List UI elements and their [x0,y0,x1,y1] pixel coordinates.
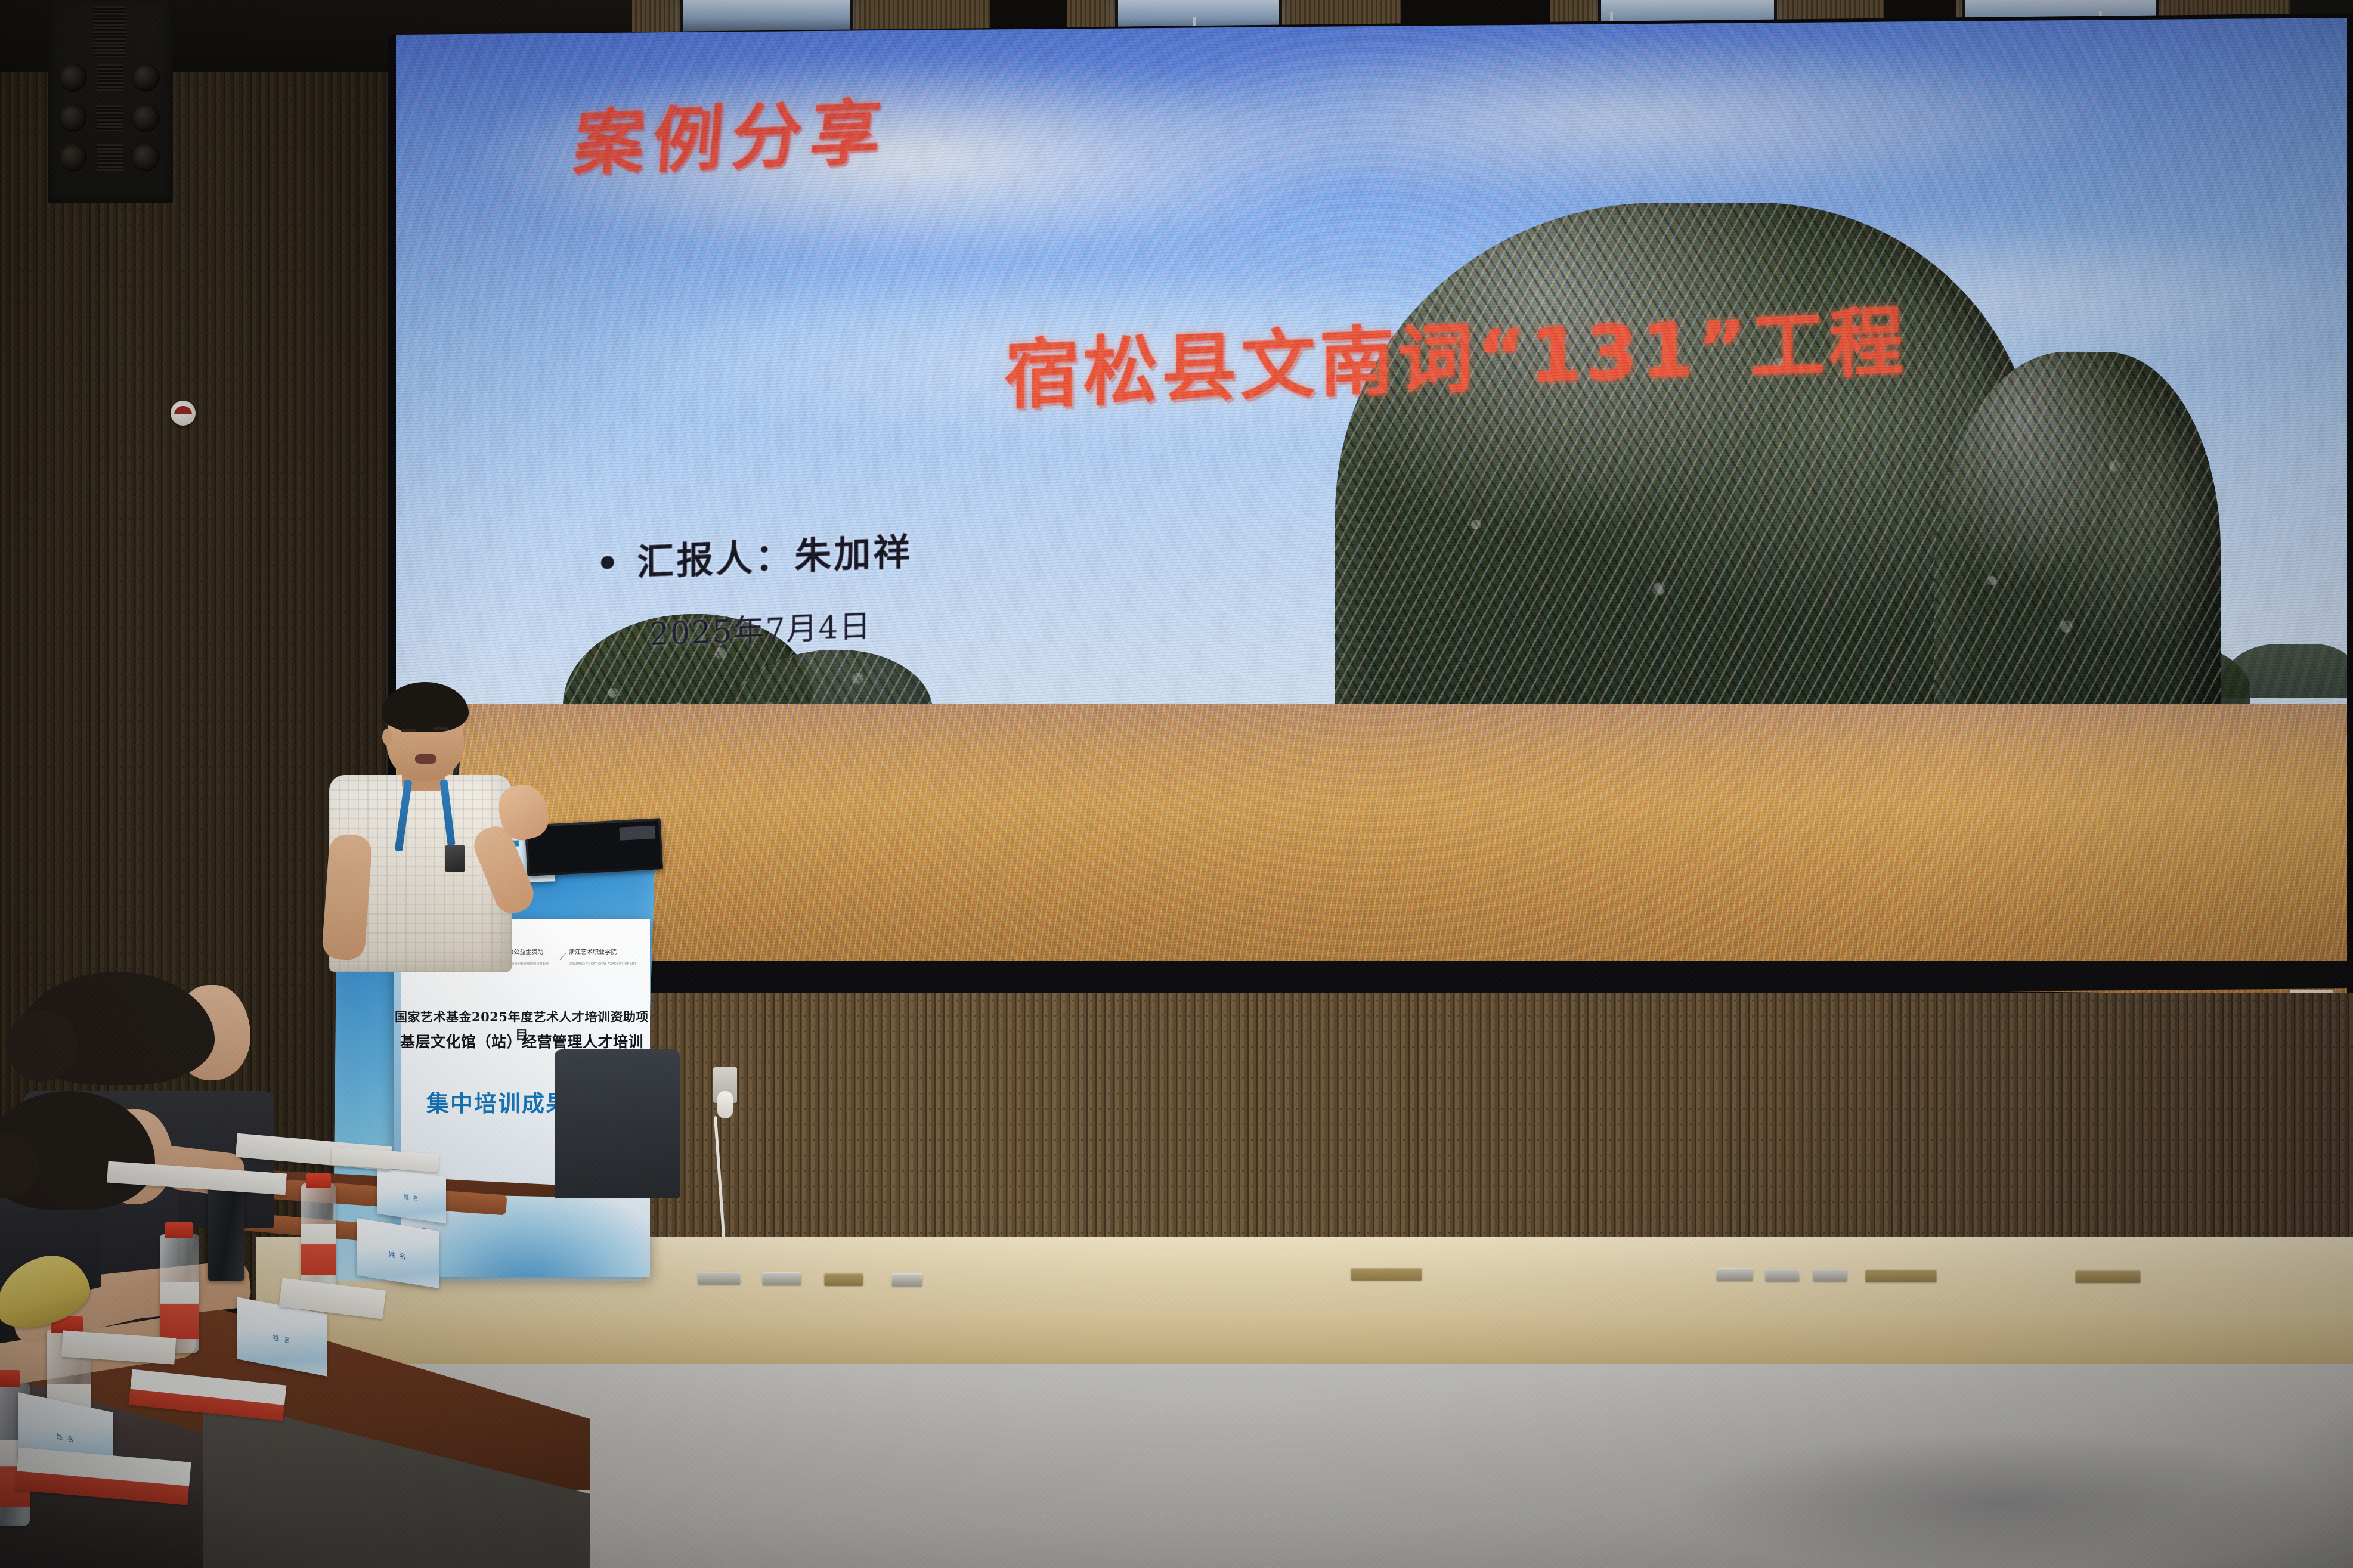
speaker-driver [58,143,87,172]
name-tent-text: 姓 名 [357,1244,439,1267]
stage-floorbox [1865,1269,1937,1282]
cloud [1112,36,2125,203]
speaker-vent [97,144,123,171]
presenter-figure [310,674,572,972]
wall-alarm-icon [171,401,196,426]
presenter-hair [382,682,469,732]
stage-floorbox [891,1273,922,1287]
thermos-flask [208,1178,244,1281]
slide-heading-case-share: 案例分享 [571,75,894,189]
laptop-badge [619,826,655,841]
stage-floorbox [824,1273,863,1286]
speaker-driver [58,63,87,92]
power-plug [717,1091,733,1118]
bottle-cap [306,1173,331,1188]
logo-sublabel: ZHEJIANG VOCATIONAL ACADEMY OF ART [569,962,636,966]
speaker-vent [97,64,123,91]
presenter-mouth [415,754,436,764]
logo-label: 浙江艺术职业学院 [569,949,617,956]
presenter-left-arm [321,833,373,962]
stage-platform-face [256,1312,2353,1366]
banner-line-2: 基层文化馆（站）经营管理人才培训 [394,1030,650,1052]
speaker-vent [97,105,123,131]
slide-date: 2025年7月4日 [649,601,872,654]
bottle-label [160,1282,199,1339]
water-bottle [160,1234,199,1353]
lanyard-badge [445,845,465,872]
stage-wall-texture [389,993,2353,1267]
presenter-eye [401,729,416,732]
presenter-eye [433,727,448,730]
stage-floorbox [1813,1269,1847,1282]
led-screen: 案例分享 宿松县文南词“131”工程 • 汇报人：朱加祥 2025年7月4日 [396,18,2347,1014]
bottle-cap [0,1370,20,1387]
far-treeline [2221,644,2347,698]
name-tent-card: 姓 名 [377,1167,446,1223]
stage-floorbox [1765,1269,1800,1282]
bottle-label [301,1224,336,1275]
presenter-ear [382,729,392,745]
name-tent-text: 姓 名 [377,1189,446,1206]
stage-floorbox [698,1272,741,1285]
water-bottle [301,1183,336,1291]
stage-floorbox [762,1272,801,1285]
rock-texture [1934,352,2221,733]
stage-floorbox [1716,1268,1753,1281]
karst-rock-island [1335,203,2039,739]
speaker-driver [131,63,160,92]
speaker-driver [58,104,87,132]
karst-rock-spur [1934,352,2221,733]
photo-scene: 案例分享 宿松县文南词“131”工程 • 汇报人：朱加祥 2025年7月4日 [0,0,2353,1568]
stage-floorbox [1351,1268,1422,1281]
floor-shadow [1670,1431,2326,1568]
slide-presenter: • 汇报人：朱加祥 [596,522,912,587]
speaker-driver [131,143,160,172]
name-tent-text: 姓 名 [237,1325,327,1352]
bottle-cap [165,1222,193,1238]
audience-chair [555,1049,680,1198]
speaker-vent [94,6,126,57]
speaker-driver [131,104,160,132]
ceiling-speaker-array [48,0,173,203]
stage-back-wall [389,993,2353,1267]
rock-texture [1335,203,2039,739]
stage-floorbox [2075,1270,2141,1283]
